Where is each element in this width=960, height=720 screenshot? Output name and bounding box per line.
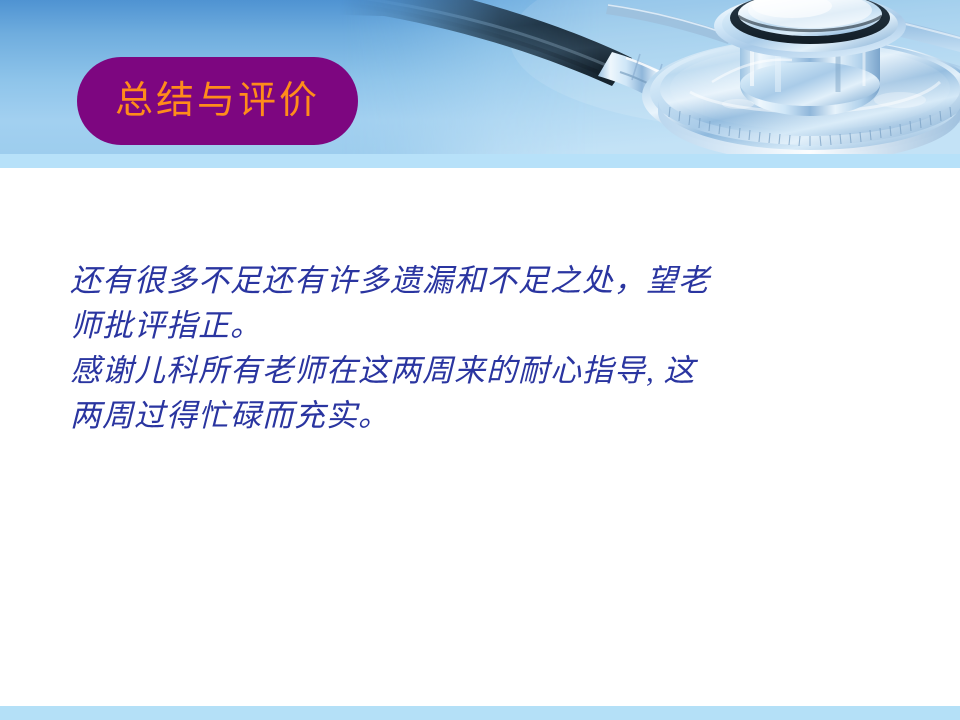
footer-accent-strip: [0, 706, 960, 720]
page-title: 总结与评价: [115, 82, 320, 120]
header-accent-strip: [0, 154, 960, 168]
body-line: 感谢儿科所有老师在这两周来的耐心指导, 这: [70, 348, 870, 393]
body-line: 两周过得忙碌而充实。: [70, 393, 870, 438]
stethoscope-photo: [340, 0, 960, 154]
slide-body: 还有很多不足还有许多遗漏和不足之处，望老 师批评指正。 感谢儿科所有老师在这两周…: [70, 258, 870, 438]
presentation-slide: 总结与评价 还有很多不足还有许多遗漏和不足之处，望老 师批评指正。 感谢儿科所有…: [0, 0, 960, 720]
slide-title-pill: 总结与评价: [77, 57, 358, 145]
header-band: 总结与评价: [0, 0, 960, 154]
body-line: 师批评指正。: [70, 303, 870, 348]
body-line: 还有很多不足还有许多遗漏和不足之处，望老: [70, 258, 870, 303]
